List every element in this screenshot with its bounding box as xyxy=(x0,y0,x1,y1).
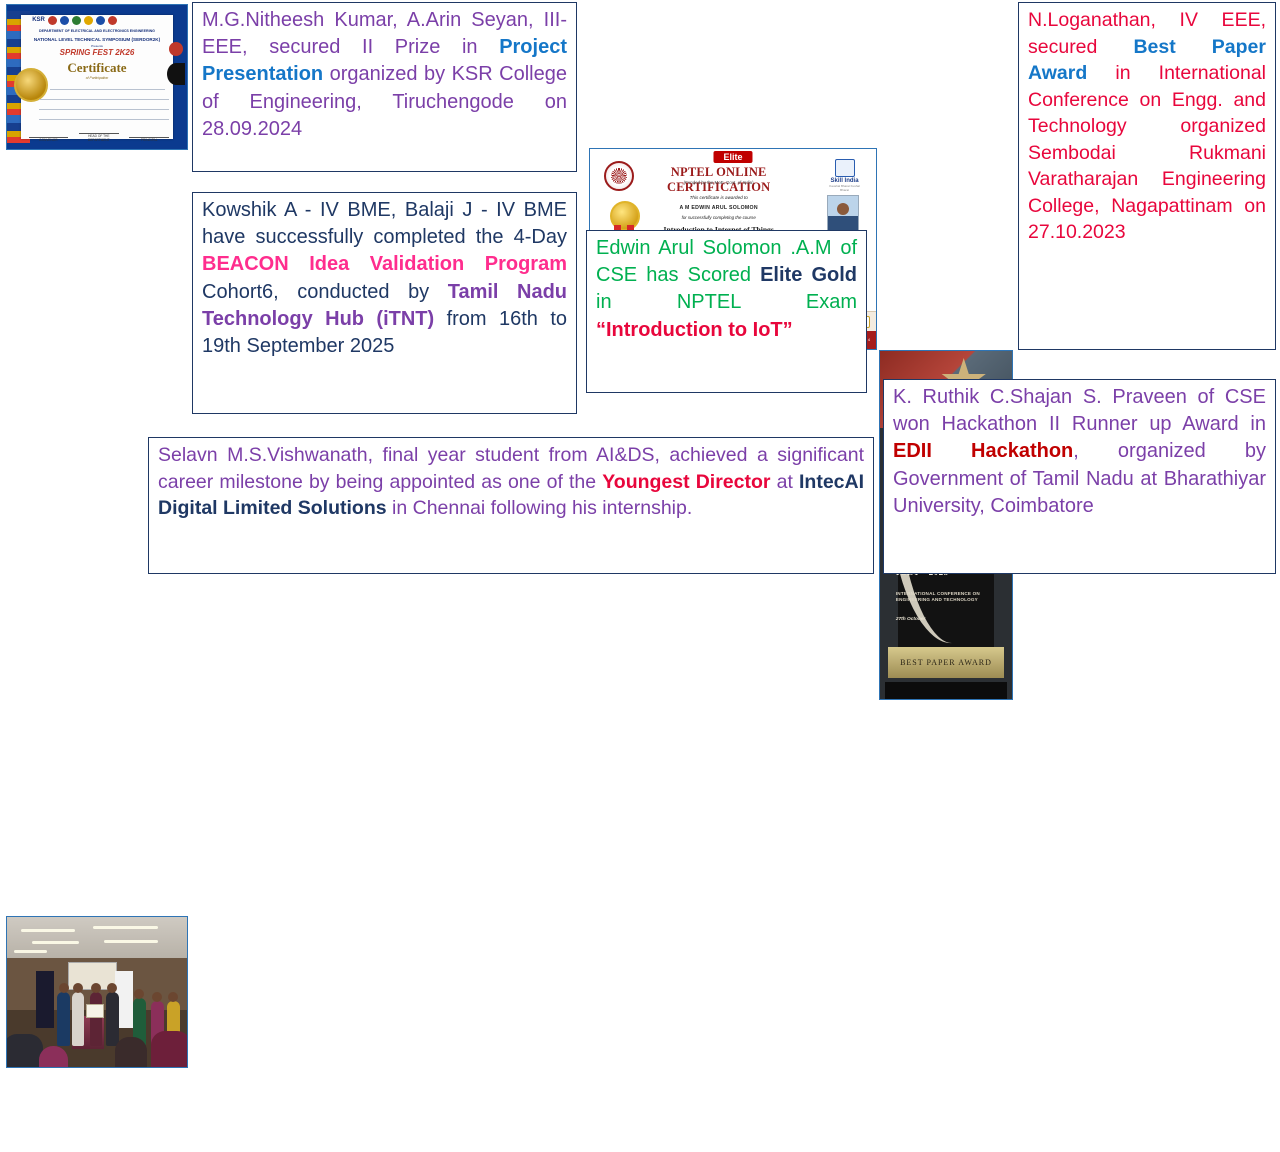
edii-hackathon-achievement: K. Ruthik C.Shajan S. Praveen of CSE won… xyxy=(883,379,1276,574)
text-run-2: Cohort6, conducted by xyxy=(202,281,448,303)
text-run-0: K. Ruthik C.Shajan S. Praveen of CSE won… xyxy=(893,386,1266,435)
partner-logo-icon xyxy=(84,16,93,25)
nptel-elite-gold-achievement: Edwin Arul Solomon .A.M of CSE has Score… xyxy=(586,230,867,393)
project-presentation-achievement: M.G.Nitheesh Kumar, A.Arin Seyan, III- E… xyxy=(192,2,577,172)
conference-date: 27th October xyxy=(896,617,926,622)
ksr-certificate-image: KSR DEPARTMENT OF ELECTRICAL AND ELECTRO… xyxy=(6,4,188,150)
person-head xyxy=(168,992,178,1002)
achievements-board: KSR DEPARTMENT OF ELECTRICAL AND ELECTRO… xyxy=(0,0,1280,576)
audience-figure xyxy=(115,1037,147,1067)
signature-hod: HEAD OF THE DEPARTMENT xyxy=(79,123,119,142)
text-run-1: Elite Gold xyxy=(760,264,857,286)
person-head xyxy=(59,983,69,993)
partner-logo-icon xyxy=(60,16,69,25)
text-run-1: EDII Hackathon xyxy=(893,440,1073,462)
form-line xyxy=(39,109,169,110)
skill-india-logo: Skill India Kaushal Bharat Kushal Bharat xyxy=(825,159,865,192)
light-strip xyxy=(93,926,158,929)
event-banner xyxy=(36,971,54,1028)
conference-subtitle: INTERNATIONAL CONFERENCE ON ENGINEERING … xyxy=(896,591,996,602)
text-run-1: Youngest Director xyxy=(602,471,770,493)
awarded-to-label: This certificate is awarded to xyxy=(630,195,807,200)
person-figure xyxy=(106,992,119,1046)
certificate-held xyxy=(86,1004,104,1018)
text-run-2: in NPTEL Exam xyxy=(596,291,857,313)
form-line xyxy=(39,99,169,100)
signature-convenor: CONVENOR xyxy=(29,127,69,142)
audience-figure xyxy=(6,1034,43,1067)
form-line xyxy=(39,119,169,120)
partner-logo-icon xyxy=(48,16,57,25)
candidate-photo xyxy=(827,195,859,233)
certificate-fest-name: SPRING FEST 2K26 xyxy=(39,48,154,57)
partner-logo-icon xyxy=(108,16,117,25)
person-head xyxy=(73,983,83,993)
decorative-dot-icon xyxy=(169,42,183,56)
achievement-text: K. Ruthik C.Shajan S. Praveen of CSE won… xyxy=(893,384,1266,520)
achievement-text: Edwin Arul Solomon .A.M of CSE has Score… xyxy=(596,235,857,344)
elite-badge: Elite xyxy=(713,151,752,163)
text-run-3: “Introduction to IoT” xyxy=(596,319,793,341)
decorative-shape-icon xyxy=(167,63,185,85)
completing-label: for successfully completing the course xyxy=(630,215,807,220)
youngest-director-achievement: Selavn M.S.Vishwanath, final year studen… xyxy=(148,437,874,574)
partner-logo-icon xyxy=(96,16,105,25)
certificate-logo-row: KSR xyxy=(32,14,176,27)
beacon-program-achievement: Kowshik A - IV BME, Balaji J - IV BME ha… xyxy=(192,192,577,414)
nptel-subtitle: (Funded by the MoE, Govt. of India) xyxy=(624,180,813,185)
light-strip xyxy=(32,941,79,944)
achievement-text: Selavn M.S.Vishwanath, final year studen… xyxy=(158,442,864,522)
person-head xyxy=(134,989,144,999)
person-head xyxy=(91,983,101,993)
audience-figure xyxy=(151,1031,188,1067)
skill-india-icon xyxy=(835,159,855,177)
person-head xyxy=(152,992,162,1002)
light-strip xyxy=(21,929,75,932)
light-strip xyxy=(104,940,158,943)
person-figure xyxy=(90,992,103,1046)
text-run-2: at xyxy=(771,471,800,493)
text-run-2: in International Conference on Engg. and… xyxy=(1028,62,1266,243)
form-line xyxy=(50,89,165,90)
achievement-text: N.Loganathan, IV EEE, secured Best Paper… xyxy=(1028,7,1266,246)
ksr-logo-text: KSR xyxy=(32,17,45,23)
person-figure xyxy=(57,992,70,1046)
trophy-base xyxy=(885,682,1006,699)
certificate-department: DEPARTMENT OF ELECTRICAL AND ELECTRONICS… xyxy=(25,29,169,33)
achievement-text: Kowshik A - IV BME, Balaji J - IV BME ha… xyxy=(202,197,567,360)
candidate-name: A M EDWIN ARUL SOLOMON xyxy=(630,205,807,211)
light-strip xyxy=(14,950,46,953)
award-label: BEST PAPER AWARD xyxy=(888,647,1004,678)
signature-principal: PRINCIPAL xyxy=(129,127,169,142)
certificate-word: Certificate xyxy=(47,60,148,76)
person-figure xyxy=(72,992,85,1046)
best-paper-award-achievement: N.Loganathan, IV EEE, secured Best Paper… xyxy=(1018,2,1276,350)
text-run-4: in Chennai following his internship. xyxy=(387,497,693,519)
certificate-event: NATIONAL LEVEL TECHNICAL SYMPOSIUM (SERD… xyxy=(25,37,169,42)
achievement-text: M.G.Nitheesh Kumar, A.Arin Seyan, III- E… xyxy=(202,7,567,143)
text-run-1: BEACON Idea Validation Program xyxy=(202,253,567,275)
partner-logo-icon xyxy=(72,16,81,25)
person-head xyxy=(107,983,117,993)
text-run-0: Kowshik A - IV BME, Balaji J - IV BME ha… xyxy=(202,199,567,248)
beacon-event-photo xyxy=(6,916,188,1068)
audience-figure xyxy=(39,1046,68,1067)
